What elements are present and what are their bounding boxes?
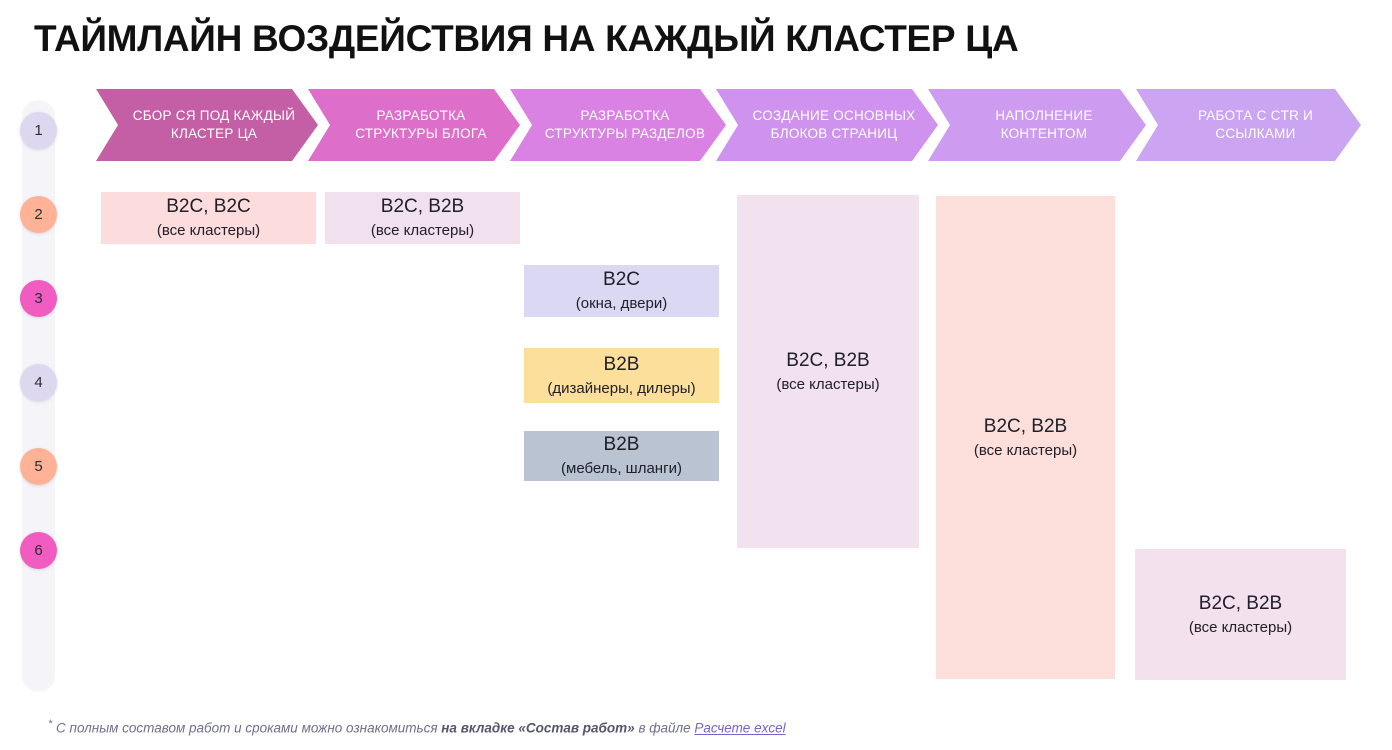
step-number: 2 — [34, 206, 42, 223]
process-stage-4[interactable]: СОЗДАНИЕ ОСНОВНЫХ БЛОКОВ СТРАНИЦ — [716, 89, 938, 161]
activity-block-subtitle: (все кластеры) — [776, 375, 879, 395]
activity-block-5[interactable]: B2B(мебель, шланги) — [524, 431, 719, 481]
activity-block-title: B2C, B2B — [786, 349, 869, 373]
step-circle-4[interactable]: 4 — [20, 364, 57, 401]
activity-block-subtitle: (все кластеры) — [1189, 618, 1292, 638]
step-circle-5[interactable]: 5 — [20, 448, 57, 485]
process-stage-label: НАПОЛНЕНИЕ КОНТЕНТОМ — [962, 107, 1126, 143]
activity-block-6[interactable]: B2C, B2B(все кластеры) — [737, 195, 919, 548]
activity-block-title: B2C, B2C — [166, 195, 250, 219]
activity-block-subtitle: (все кластеры) — [157, 221, 260, 241]
process-stage-1[interactable]: СБОР СЯ ПОД КАЖДЫЙ КЛАСТЕР ЦА — [96, 89, 318, 161]
footnote-link[interactable]: Расчете excel — [694, 721, 785, 736]
activity-block-4[interactable]: B2B(дизайнеры, дилеры) — [524, 348, 719, 403]
step-number: 1 — [34, 122, 42, 139]
process-stage-label: СОЗДАНИЕ ОСНОВНЫХ БЛОКОВ СТРАНИЦ — [750, 107, 918, 143]
process-stage-3[interactable]: РАЗРАБОТКА СТРУКТУРЫ РАЗДЕЛОВ — [510, 89, 726, 161]
process-stage-label: РАЗРАБОТКА СТРУКТУРЫ БЛОГА — [342, 107, 500, 143]
activity-block-subtitle: (все кластеры) — [974, 441, 1077, 461]
activity-block-title: B2C — [603, 268, 640, 292]
activity-block-7[interactable]: B2C, B2B(все кластеры) — [936, 196, 1115, 679]
activity-block-title: B2C, B2B — [1199, 592, 1282, 616]
activity-block-subtitle: (все кластеры) — [371, 221, 474, 241]
activity-block-1[interactable]: B2C, B2C(все кластеры) — [101, 192, 316, 244]
step-circle-1[interactable]: 1 — [20, 112, 57, 149]
activity-block-8[interactable]: B2C, B2B(все кластеры) — [1135, 549, 1346, 680]
process-stage-5[interactable]: НАПОЛНЕНИЕ КОНТЕНТОМ — [928, 89, 1146, 161]
step-number: 3 — [34, 290, 42, 307]
activity-block-subtitle: (дизайнеры, дилеры) — [547, 379, 695, 399]
activity-block-title: B2C, B2B — [984, 415, 1067, 439]
footnote-middle: в файле — [635, 721, 695, 736]
timeline-infographic: ТАЙМЛАЙН ВОЗДЕЙСТВИЯ НА КАЖДЫЙ КЛАСТЕР Ц… — [0, 0, 1392, 750]
activity-block-2[interactable]: B2C, B2B(все кластеры) — [325, 192, 520, 244]
footnote: * С полным составом работ и сроками можн… — [48, 718, 786, 736]
step-circle-6[interactable]: 6 — [20, 532, 57, 569]
step-number: 4 — [34, 374, 42, 391]
step-circle-3[interactable]: 3 — [20, 280, 57, 317]
activity-block-subtitle: (мебель, шланги) — [561, 459, 682, 479]
step-circle-2[interactable]: 2 — [20, 196, 57, 233]
process-stage-label: РАЗРАБОТКА СТРУКТУРЫ РАЗДЕЛОВ — [544, 107, 706, 143]
activity-block-3[interactable]: B2C(окна, двери) — [524, 265, 719, 317]
footnote-prefix: С полным составом работ и сроками можно … — [52, 721, 441, 736]
activity-block-title: B2B — [604, 353, 640, 377]
footnote-strong: на вкладке «Состав работ» — [441, 721, 634, 736]
activity-block-subtitle: (окна, двери) — [576, 294, 667, 314]
activity-block-title: B2C, B2B — [381, 195, 464, 219]
process-band: СБОР СЯ ПОД КАЖДЫЙ КЛАСТЕР ЦАРАЗРАБОТКА … — [96, 89, 1361, 161]
process-stage-label: СБОР СЯ ПОД КАЖДЫЙ КЛАСТЕР ЦА — [130, 107, 298, 143]
activity-block-title: B2B — [604, 433, 640, 457]
process-stage-2[interactable]: РАЗРАБОТКА СТРУКТУРЫ БЛОГА — [308, 89, 520, 161]
page-title: ТАЙМЛАЙН ВОЗДЕЙСТВИЯ НА КАЖДЫЙ КЛАСТЕР Ц… — [34, 18, 1018, 60]
process-stage-label: РАБОТА С CTR И ССЫЛКАМИ — [1170, 107, 1341, 143]
step-number: 5 — [34, 458, 42, 475]
process-stage-6[interactable]: РАБОТА С CTR И ССЫЛКАМИ — [1136, 89, 1361, 161]
step-number: 6 — [34, 542, 42, 559]
